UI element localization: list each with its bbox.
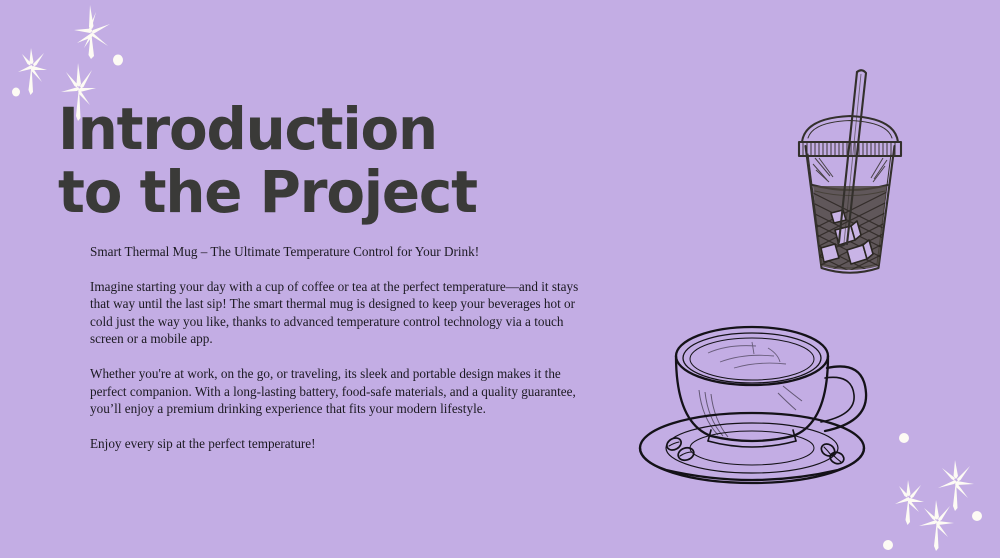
iced-coffee-cup-icon: [775, 58, 925, 293]
slide-canvas: Introduction to the Project Smart Therma…: [0, 0, 1000, 558]
body-copy: Smart Thermal Mug – The Ultimate Tempera…: [90, 243, 590, 452]
body-paragraph-1: Imagine starting your day with a cup of …: [90, 278, 590, 348]
page-title: Introduction to the Project: [58, 98, 618, 224]
page-title-line-2: to the Project: [58, 161, 601, 224]
body-paragraph-2: Whether you're at work, on the go, or tr…: [90, 365, 590, 418]
page-title-line-1: Introduction: [58, 98, 601, 161]
teacup-and-saucer-icon: [628, 298, 886, 493]
sparkle-cluster-bottom-right: [878, 418, 1000, 558]
body-paragraph-headline: Smart Thermal Mug – The Ultimate Tempera…: [90, 243, 590, 261]
body-paragraph-closing: Enjoy every sip at the perfect temperatu…: [90, 435, 590, 453]
